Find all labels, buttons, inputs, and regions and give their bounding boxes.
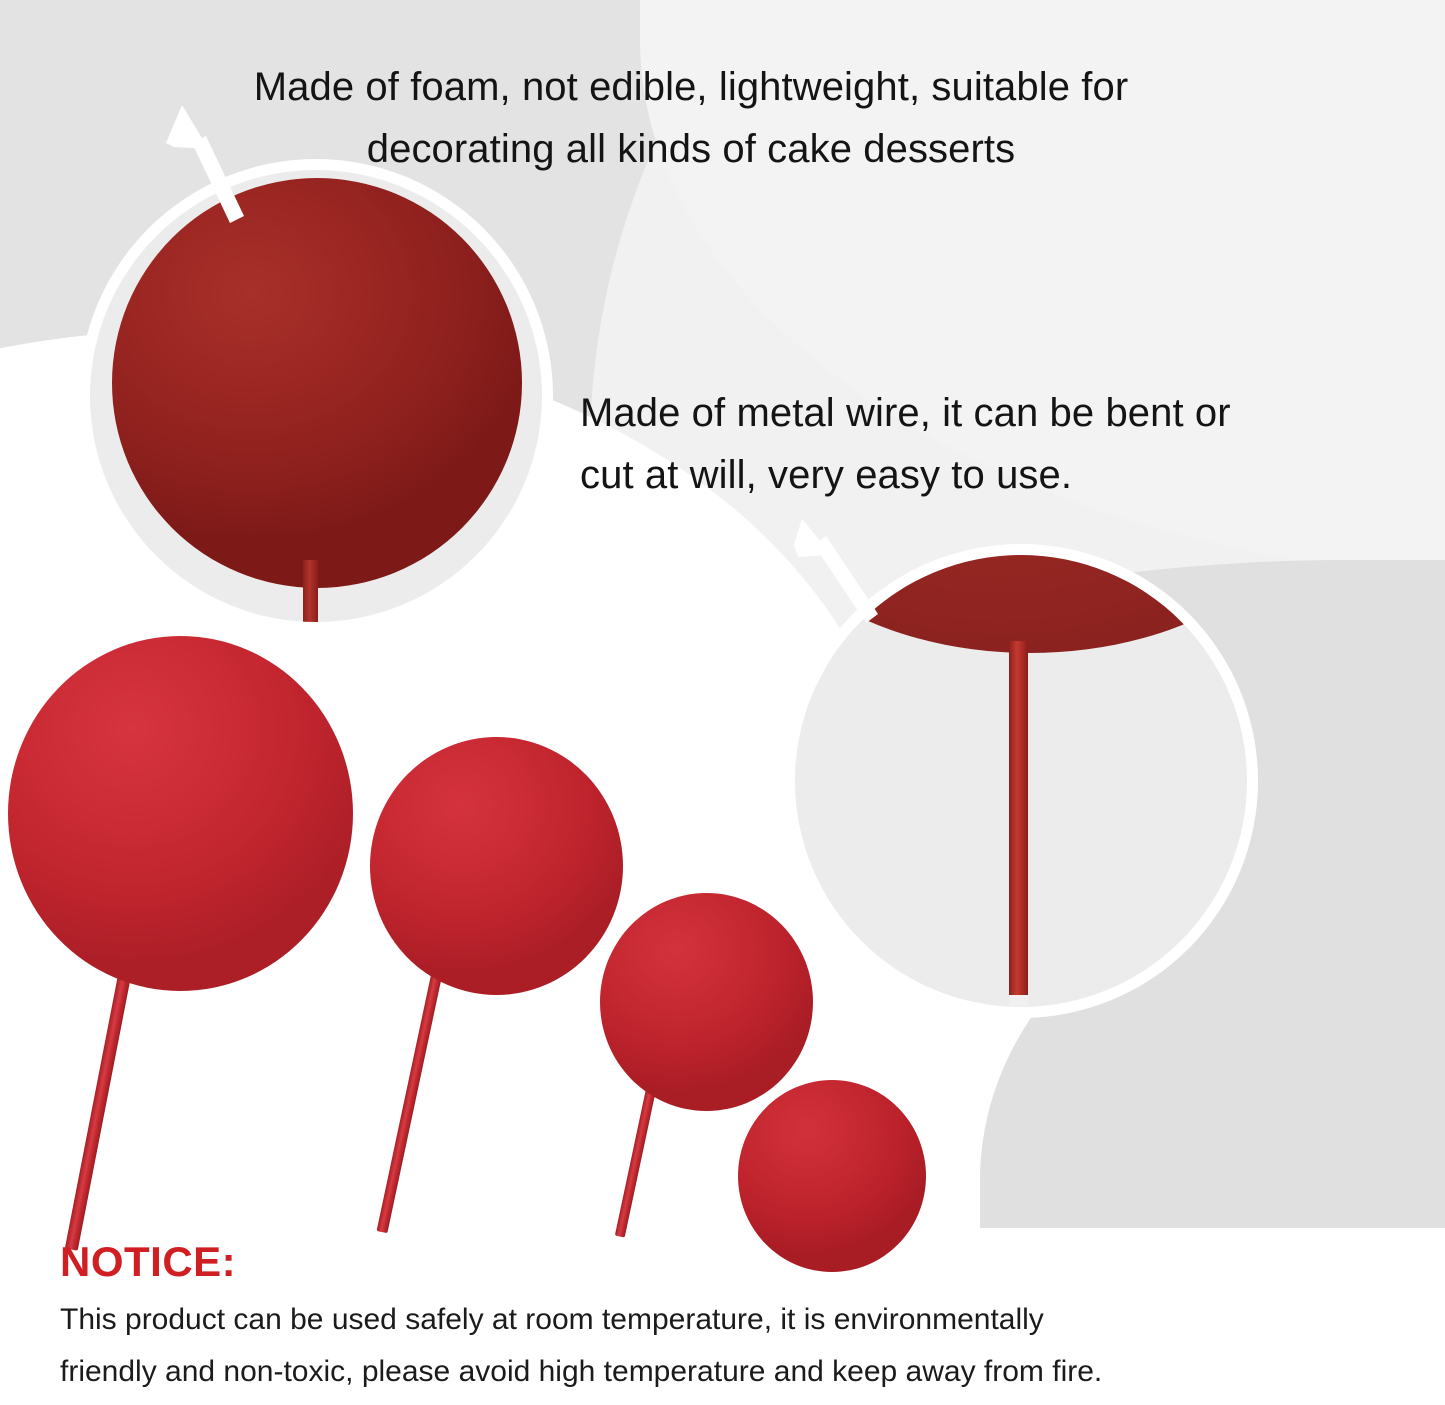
arrow-up-left-icon: [780, 505, 910, 635]
stick-large: [377, 965, 444, 1233]
ball-largest: [8, 636, 353, 991]
stick-largest: [65, 954, 135, 1251]
stick-medium: [615, 1079, 658, 1238]
notice-title: NOTICE:: [60, 1240, 1420, 1284]
notice-block: NOTICE: This product can be used safely …: [60, 1240, 1420, 1397]
notice-body: This product can be used safely at room …: [60, 1294, 1420, 1397]
product-infographic: Made of foam, not edible, lightweight, s…: [0, 0, 1445, 1405]
ball-medium: [600, 893, 813, 1111]
callout-text-wire: Made of metal wire, it can be bent or cu…: [580, 382, 1440, 506]
magnifier-circle-foam: [90, 170, 542, 622]
magnified-foam-stem: [303, 560, 318, 622]
magnified-metal-wire: [1009, 641, 1028, 1001]
callout-text-foam: Made of foam, not edible, lightweight, s…: [96, 56, 1286, 180]
magnified-foam-sphere: [112, 178, 522, 588]
magnified-wire-tip: [1009, 995, 1028, 1007]
ball-large: [370, 737, 623, 995]
